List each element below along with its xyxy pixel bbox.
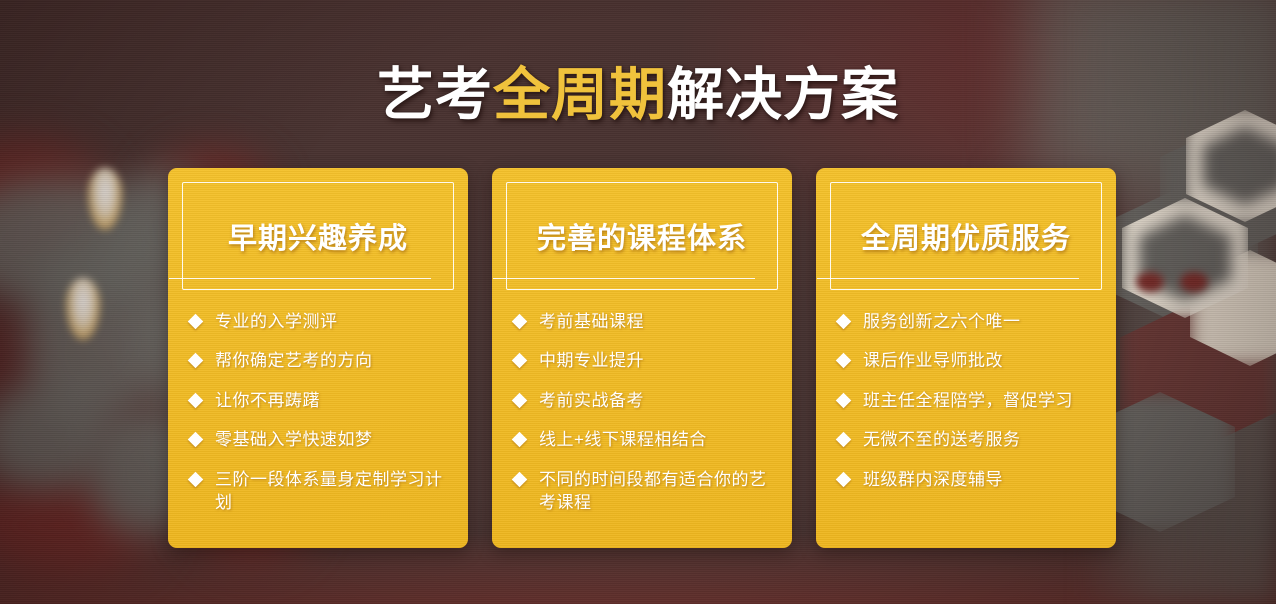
- list-item-label: 三阶一段体系量身定制学习计划: [215, 468, 452, 515]
- card-bullet-list: 专业的入学测评 帮你确定艺考的方向 让你不再踌躇 零基础入学快速如梦 三阶一段体…: [168, 310, 468, 515]
- diamond-bullet-icon: [836, 393, 852, 409]
- diamond-bullet-icon: [188, 432, 204, 448]
- list-item: 考前实战备考: [514, 389, 776, 412]
- card-header: 全周期优质服务: [830, 182, 1102, 290]
- list-item-label: 无微不至的送考服务: [863, 428, 1100, 451]
- list-item: 中期专业提升: [514, 349, 776, 372]
- list-item-label: 服务创新之六个唯一: [863, 310, 1100, 333]
- diamond-bullet-icon: [188, 353, 204, 369]
- card-bullet-list: 服务创新之六个唯一 课后作业导师批改 班主任全程陪学，督促学习 无微不至的送考服…: [816, 310, 1116, 491]
- list-item-label: 中期专业提升: [539, 349, 776, 372]
- card-heading: 完善的课程体系: [537, 215, 747, 257]
- list-item-label: 线上+线下课程相结合: [539, 428, 776, 451]
- diamond-bullet-icon: [512, 472, 528, 488]
- list-item: 让你不再踌躇: [190, 389, 452, 412]
- diamond-bullet-icon: [836, 314, 852, 330]
- list-item: 零基础入学快速如梦: [190, 428, 452, 451]
- list-item-label: 考前实战备考: [539, 389, 776, 412]
- diamond-bullet-icon: [188, 472, 204, 488]
- diamond-bullet-icon: [512, 314, 528, 330]
- list-item-label: 不同的时间段都有适合你的艺考课程: [539, 468, 776, 515]
- list-item-label: 班主任全程陪学，督促学习: [863, 389, 1100, 412]
- list-item: 专业的入学测评: [190, 310, 452, 333]
- card-header-underline: [817, 278, 1079, 279]
- card-header: 完善的课程体系: [506, 182, 778, 290]
- diamond-bullet-icon: [188, 314, 204, 330]
- list-item-label: 考前基础课程: [539, 310, 776, 333]
- card-heading: 全周期优质服务: [861, 215, 1071, 257]
- feature-card-course-system[interactable]: 完善的课程体系 考前基础课程 中期专业提升 考前实战备考 线上+线下课程相结合 …: [492, 168, 792, 548]
- card-header: 早期兴趣养成: [182, 182, 454, 290]
- page-title-prefix: 艺考: [377, 63, 493, 127]
- list-item: 不同的时间段都有适合你的艺考课程: [514, 468, 776, 515]
- list-item-label: 让你不再踌躇: [215, 389, 452, 412]
- list-item: 班级群内深度辅导: [838, 468, 1100, 491]
- diamond-bullet-icon: [836, 353, 852, 369]
- list-item: 班主任全程陪学，督促学习: [838, 389, 1100, 412]
- feature-card-list: 早期兴趣养成 专业的入学测评 帮你确定艺考的方向 让你不再踌躇 零基础入学快速如…: [168, 168, 1116, 548]
- list-item-label: 帮你确定艺考的方向: [215, 349, 452, 372]
- list-item-label: 班级群内深度辅导: [863, 468, 1100, 491]
- page-title-highlight: 全周期: [493, 63, 667, 127]
- promo-banner: 艺考全周期解决方案 早期兴趣养成 专业的入学测评 帮你确定艺考的方向 让你不再踌…: [0, 0, 1276, 604]
- diamond-bullet-icon: [512, 432, 528, 448]
- feature-card-early-interest[interactable]: 早期兴趣养成 专业的入学测评 帮你确定艺考的方向 让你不再踌躇 零基础入学快速如…: [168, 168, 468, 548]
- card-bullet-list: 考前基础课程 中期专业提升 考前实战备考 线上+线下课程相结合 不同的时间段都有…: [492, 310, 792, 515]
- list-item: 服务创新之六个唯一: [838, 310, 1100, 333]
- diamond-bullet-icon: [512, 353, 528, 369]
- diamond-bullet-icon: [836, 472, 852, 488]
- list-item: 无微不至的送考服务: [838, 428, 1100, 451]
- list-item: 考前基础课程: [514, 310, 776, 333]
- card-header-underline: [169, 278, 431, 279]
- list-item-label: 专业的入学测评: [215, 310, 452, 333]
- diamond-bullet-icon: [836, 432, 852, 448]
- diamond-bullet-icon: [188, 393, 204, 409]
- diamond-bullet-icon: [512, 393, 528, 409]
- card-heading: 早期兴趣养成: [228, 215, 408, 257]
- list-item-label: 零基础入学快速如梦: [215, 428, 452, 451]
- page-title-suffix: 解决方案: [667, 63, 899, 127]
- card-header-underline: [493, 278, 755, 279]
- page-title: 艺考全周期解决方案: [0, 66, 1276, 126]
- feature-card-full-cycle-service[interactable]: 全周期优质服务 服务创新之六个唯一 课后作业导师批改 班主任全程陪学，督促学习 …: [816, 168, 1116, 548]
- list-item-label: 课后作业导师批改: [863, 349, 1100, 372]
- list-item: 帮你确定艺考的方向: [190, 349, 452, 372]
- list-item: 线上+线下课程相结合: [514, 428, 776, 451]
- list-item: 三阶一段体系量身定制学习计划: [190, 468, 452, 515]
- list-item: 课后作业导师批改: [838, 349, 1100, 372]
